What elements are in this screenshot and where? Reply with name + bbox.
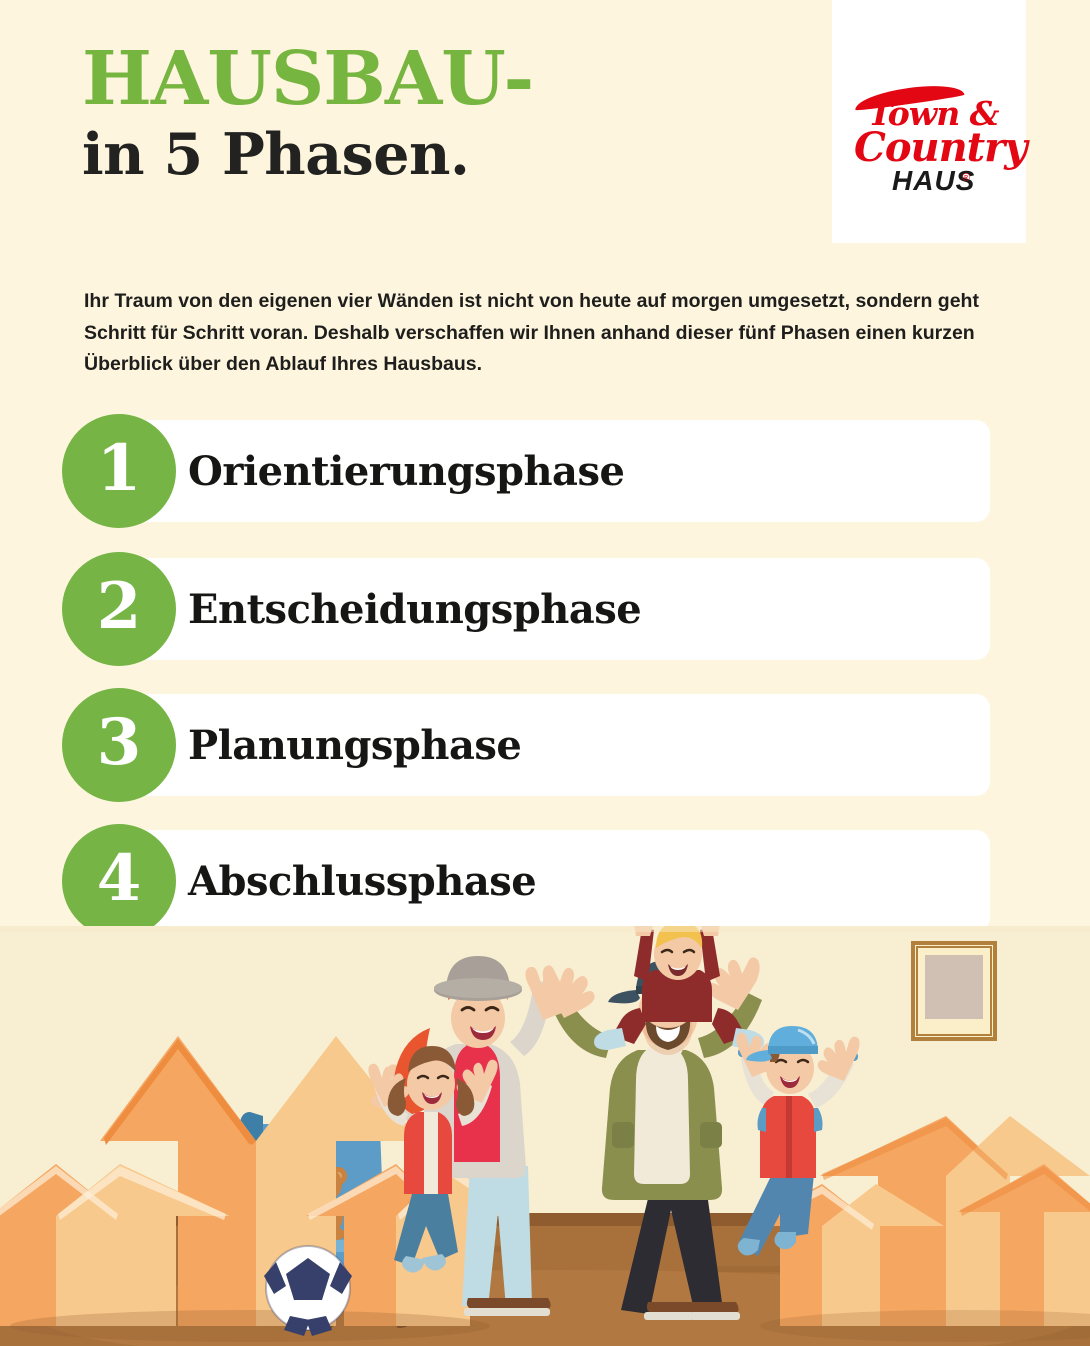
page-title: HAUSBAU- in 5 Phasen. — [82, 44, 782, 185]
phase-label: Entscheidungsphase — [188, 558, 641, 660]
phase-label: Orientierungsphase — [188, 420, 624, 522]
phase-number: 2 — [97, 575, 142, 639]
logo-line-2: Country — [854, 124, 1026, 171]
title-line-1: HAUSBAU- — [82, 44, 782, 115]
logo-artwork: Town & Country HAUS ® — [832, 72, 1026, 202]
phase-number-badge: 3 — [62, 688, 176, 802]
registered-mark-icon: ® — [962, 172, 970, 184]
phase-bar — [108, 830, 990, 932]
phase-bar — [108, 694, 990, 796]
phase-row-1: 1 Orientierungsphase — [62, 420, 990, 522]
brand-logo: Town & Country HAUS ® — [832, 0, 1026, 243]
phase-number: 4 — [97, 847, 142, 911]
phase-row-2: 2 Entscheidungsphase — [62, 558, 990, 660]
phase-number-badge: 4 — [62, 824, 176, 938]
wall-top-shade — [0, 926, 1090, 932]
title-line-2: in 5 Phasen. — [82, 125, 782, 185]
phase-number: 3 — [97, 711, 142, 775]
phase-number-badge: 1 — [62, 414, 176, 528]
phase-bar — [108, 420, 990, 522]
intro-paragraph: Ihr Traum von den eigenen vier Wänden is… — [84, 286, 984, 381]
phase-label: Abschlussphase — [188, 830, 536, 932]
phase-row-4: 4 Abschlussphase — [62, 830, 990, 932]
phase-number-badge: 2 — [62, 552, 176, 666]
phase-number: 1 — [97, 437, 142, 501]
infographic-page: HAUSBAU- in 5 Phasen. Town & Country HAU… — [0, 0, 1090, 1346]
phase-bar — [108, 558, 990, 660]
picture-frame-icon — [911, 941, 997, 1041]
phase-row-3: 3 Planungsphase — [62, 694, 990, 796]
phase-label: Planungsphase — [188, 694, 521, 796]
